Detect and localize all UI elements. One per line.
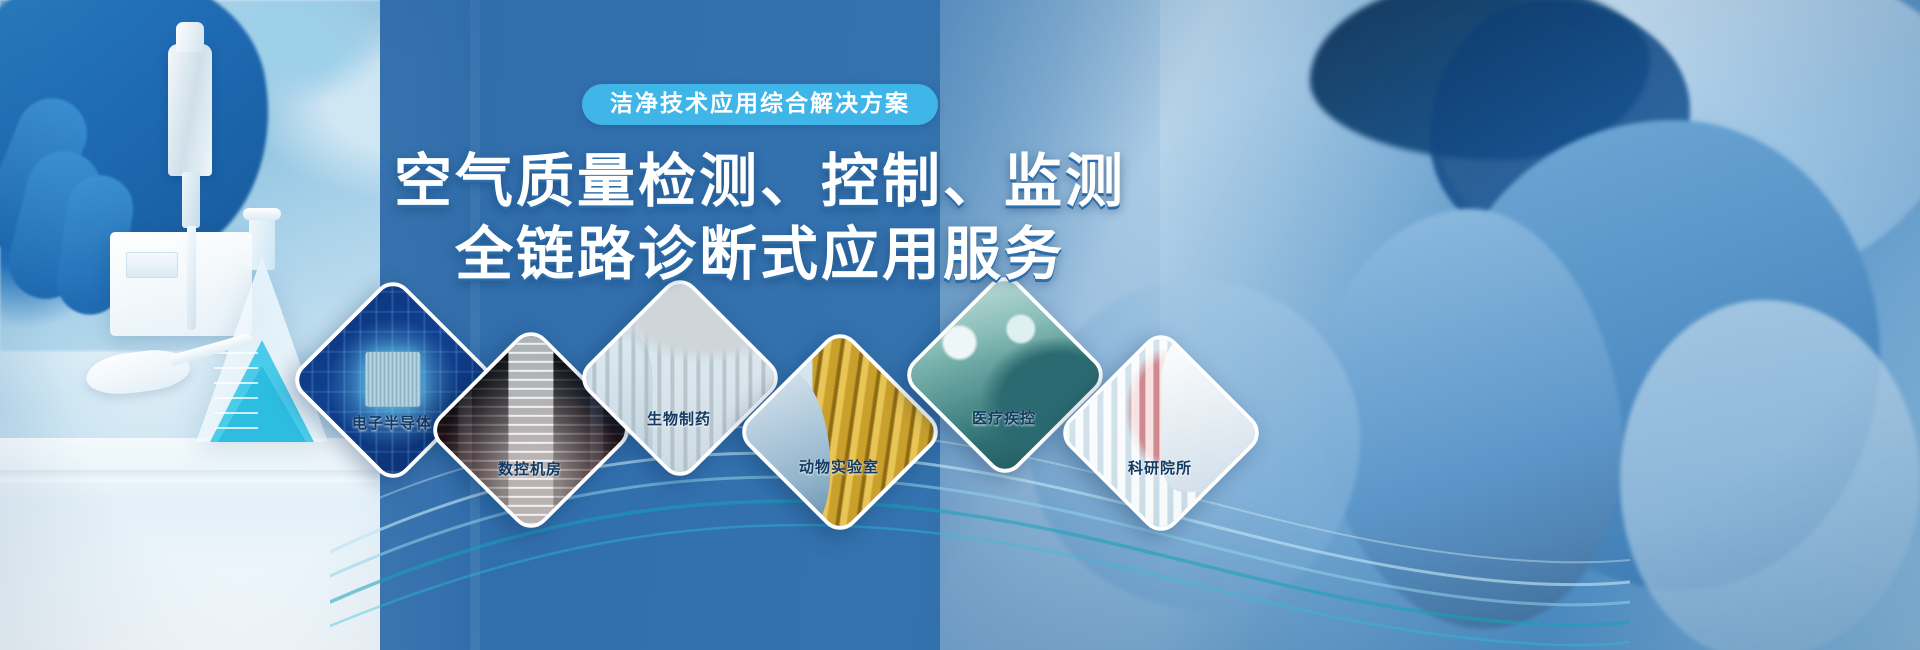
headline-line-2: 全链路诊断式应用服务: [0, 218, 1520, 291]
industry-card-label-research: 科研院所: [1060, 457, 1260, 478]
promo-banner: 洁净技术应用综合解决方案 空气质量检测、控制、监测 全链路诊断式应用服务 电子半…: [0, 0, 1920, 650]
page-title: 空气质量检测、控制、监测 全链路诊断式应用服务: [0, 145, 1520, 291]
industry-card-label-datacenter: 数控机房: [430, 458, 630, 479]
badge-tagline: 洁净技术应用综合解决方案: [582, 84, 938, 125]
headline-line-1: 空气质量检测、控制、监测: [394, 149, 1126, 214]
industry-card-label-animal-lab: 动物实验室: [739, 456, 939, 477]
banner-text-block: 洁净技术应用综合解决方案 空气质量检测、控制、监测 全链路诊断式应用服务: [0, 84, 1520, 291]
